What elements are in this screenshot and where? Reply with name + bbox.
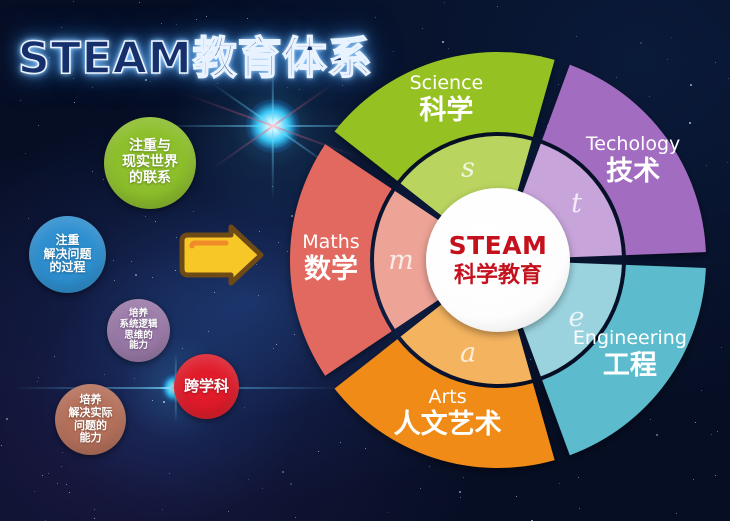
concept-bubble-logic-thinking[interactable]: 培养系统逻辑思维的能力 <box>107 299 170 362</box>
segment-label-cn-technology: 技术 <box>606 156 660 187</box>
segment-label-en-technology: Techology <box>585 133 680 155</box>
concept-bubble-label: 注重解决问题的过程 <box>43 234 91 275</box>
center-label-en: STEAM <box>423 231 573 261</box>
inner-letter-engineering: e <box>569 302 585 333</box>
segment-label-en-maths: Maths <box>302 231 359 253</box>
inner-letter-arts: a <box>460 337 476 368</box>
bubble-line: 现实世界 <box>122 155 178 171</box>
center-label: STEAM 科学教育 <box>423 231 573 289</box>
steam-diagram-canvas: STEAM教育体系 注重与现实世界的联系注重解决问题的过程培养系统逻辑思维的能力… <box>0 0 730 521</box>
concept-bubble-label: 注重与现实世界的联系 <box>122 139 178 187</box>
steam-wheel: Science科学Techology技术Engineering工程Arts人文艺… <box>282 44 714 476</box>
bubble-line: 的过程 <box>43 261 91 275</box>
concept-bubble-label: 培养解决实际问题的能力 <box>69 394 113 444</box>
center-label-cn: 科学教育 <box>423 263 573 289</box>
concept-bubble-cross-discipline[interactable]: 跨学科 <box>174 354 239 419</box>
segment-label-en-engineering: Engineering <box>573 327 687 349</box>
segment-label-cn-maths: 数学 <box>304 253 358 285</box>
right-arrow-icon <box>176 224 264 286</box>
inner-letter-science: s <box>461 153 475 184</box>
concept-bubble-real-world[interactable]: 注重与现实世界的联系 <box>104 117 196 209</box>
concept-bubble-label: 培养系统逻辑思维的能力 <box>119 309 157 352</box>
inner-letter-technology: t <box>571 188 582 219</box>
concept-bubble-problem-process[interactable]: 注重解决问题的过程 <box>29 216 106 293</box>
bubble-line: 注重 <box>43 234 91 248</box>
inner-letter-maths: m <box>388 245 414 276</box>
segment-label-en-arts: Arts <box>429 386 467 408</box>
bubble-line: 解决实际 <box>69 407 113 420</box>
bubble-line: 能力 <box>69 432 113 445</box>
concept-bubble-label: 跨学科 <box>184 378 229 395</box>
bubble-line: 能力 <box>119 341 157 352</box>
bubble-line: 的联系 <box>122 171 178 187</box>
segment-label-cn-arts: 人文艺术 <box>394 408 502 440</box>
bubble-line: 跨学科 <box>184 378 229 395</box>
bubble-line: 系统逻辑 <box>119 320 157 331</box>
bubble-line: 注重与 <box>122 139 178 155</box>
segment-label-en-science: Science <box>410 72 484 94</box>
concept-bubble-practical-problem[interactable]: 培养解决实际问题的能力 <box>55 384 126 455</box>
segment-label-cn-science: 科学 <box>419 94 473 126</box>
segment-label-cn-engineering: 工程 <box>603 350 657 381</box>
